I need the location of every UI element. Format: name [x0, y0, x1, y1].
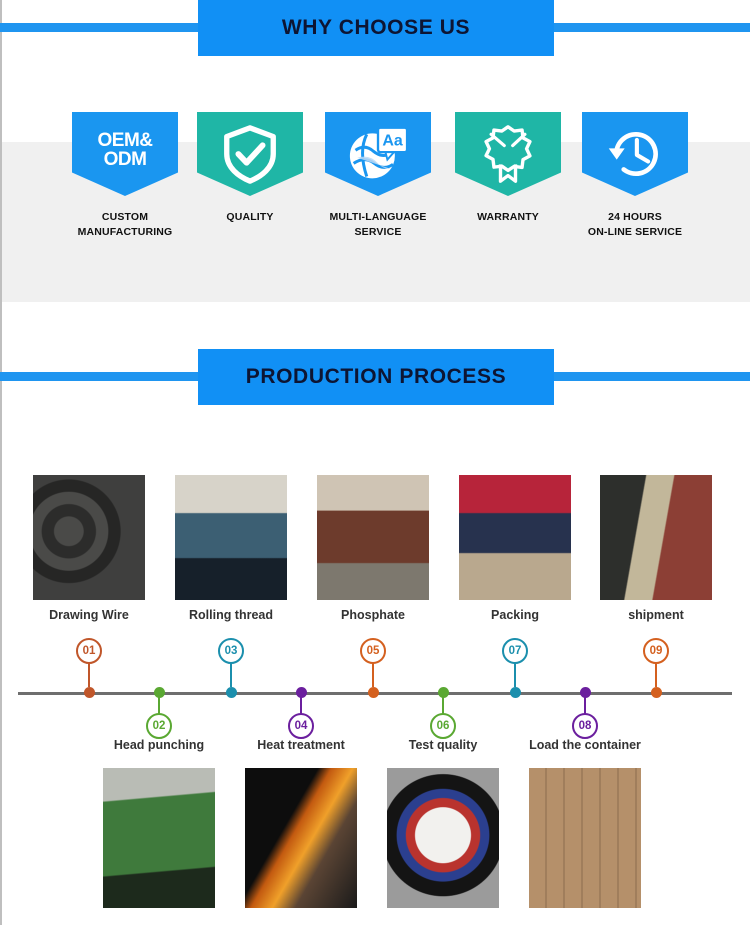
- green-machine-image: [103, 768, 215, 908]
- features-row: OEM&ODM CUSTOMMANUFACTURING QUALITY Aa M…: [0, 0, 750, 300]
- feature-badge: Aa: [325, 112, 431, 196]
- glowing-hot-metal-image: [245, 768, 357, 908]
- step-label: Rolling thread: [189, 608, 273, 622]
- step-number-badge[interactable]: 03: [218, 638, 244, 664]
- step-label: Load the container: [529, 738, 641, 752]
- feature-caption: MULTI-LANGUAGESERVICE: [308, 210, 448, 240]
- phosphate-tank-image: [317, 475, 429, 600]
- step-photo: [600, 475, 712, 600]
- feature-card-3: Aa MULTI-LANGUAGESERVICE: [325, 112, 431, 240]
- step-number-badge[interactable]: 09: [643, 638, 669, 664]
- step-label: Test quality: [409, 738, 478, 752]
- step-label: Heat treatment: [257, 738, 345, 752]
- feature-caption: 24 HOURSON-LINE SERVICE: [565, 210, 705, 240]
- wire-coils-image: [33, 475, 145, 600]
- dial-gauge-image: [387, 768, 499, 908]
- step-number-badge[interactable]: 05: [360, 638, 386, 664]
- timeline-dot: [368, 687, 379, 698]
- workers-packing-boxes-image: [459, 475, 571, 600]
- step-number-badge[interactable]: 04: [288, 713, 314, 739]
- badge-text: OEM&ODM: [98, 131, 153, 170]
- award-ribbon-icon: [478, 123, 538, 185]
- feature-badge: [582, 112, 688, 196]
- step-label: Phosphate: [341, 608, 405, 622]
- header-plate-production-process: PRODUCTION PROCESS: [198, 349, 554, 405]
- step-number-badge[interactable]: 06: [430, 713, 456, 739]
- timeline-dot: [84, 687, 95, 698]
- step-photo: [529, 768, 641, 908]
- step-label: Drawing Wire: [49, 608, 129, 622]
- step-label: shipment: [628, 608, 684, 622]
- feature-caption: QUALITY: [180, 210, 320, 225]
- clock-refresh-icon: [604, 124, 666, 184]
- feature-caption: WARRANTY: [438, 210, 578, 225]
- shipping-container-image: [600, 475, 712, 600]
- stacked-cartons-image: [529, 768, 641, 908]
- feature-caption: CUSTOMMANUFACTURING: [55, 210, 195, 240]
- globe-language-icon: Aa: [346, 124, 410, 184]
- step-label: Packing: [491, 608, 539, 622]
- step-photo: [459, 475, 571, 600]
- step-number-badge[interactable]: 08: [572, 713, 598, 739]
- feature-badge: [455, 112, 561, 196]
- step-photo: [175, 475, 287, 600]
- timeline-dot: [226, 687, 237, 698]
- step-number-badge[interactable]: 02: [146, 713, 172, 739]
- section-title-production-process: PRODUCTION PROCESS: [246, 365, 507, 389]
- feature-card-5: 24 HOURSON-LINE SERVICE: [582, 112, 688, 240]
- production-timeline: 01 Drawing Wire 02 Head punching 03 Roll…: [0, 420, 750, 925]
- step-photo: [317, 475, 429, 600]
- timeline-dot: [651, 687, 662, 698]
- step-photo: [245, 768, 357, 908]
- feature-card-1: OEM&ODM CUSTOMMANUFACTURING: [72, 112, 178, 240]
- svg-text:Aa: Aa: [382, 133, 402, 150]
- timeline-dot: [510, 687, 521, 698]
- step-photo: [33, 475, 145, 600]
- thread-rolling-machines-image: [175, 475, 287, 600]
- page-root: WHY CHOOSE US OEM&ODM CUSTOMMANUFACTURIN…: [0, 0, 750, 925]
- step-number-badge[interactable]: 07: [502, 638, 528, 664]
- step-label: Head punching: [114, 738, 204, 752]
- section-header-production-process: PRODUCTION PROCESS: [0, 349, 750, 405]
- feature-card-2: QUALITY: [197, 112, 303, 225]
- step-photo: [387, 768, 499, 908]
- shield-check-icon: [219, 123, 281, 185]
- feature-badge: OEM&ODM: [72, 112, 178, 196]
- feature-card-4: WARRANTY: [455, 112, 561, 225]
- step-photo: [103, 768, 215, 908]
- step-number-badge[interactable]: 01: [76, 638, 102, 664]
- feature-badge: [197, 112, 303, 196]
